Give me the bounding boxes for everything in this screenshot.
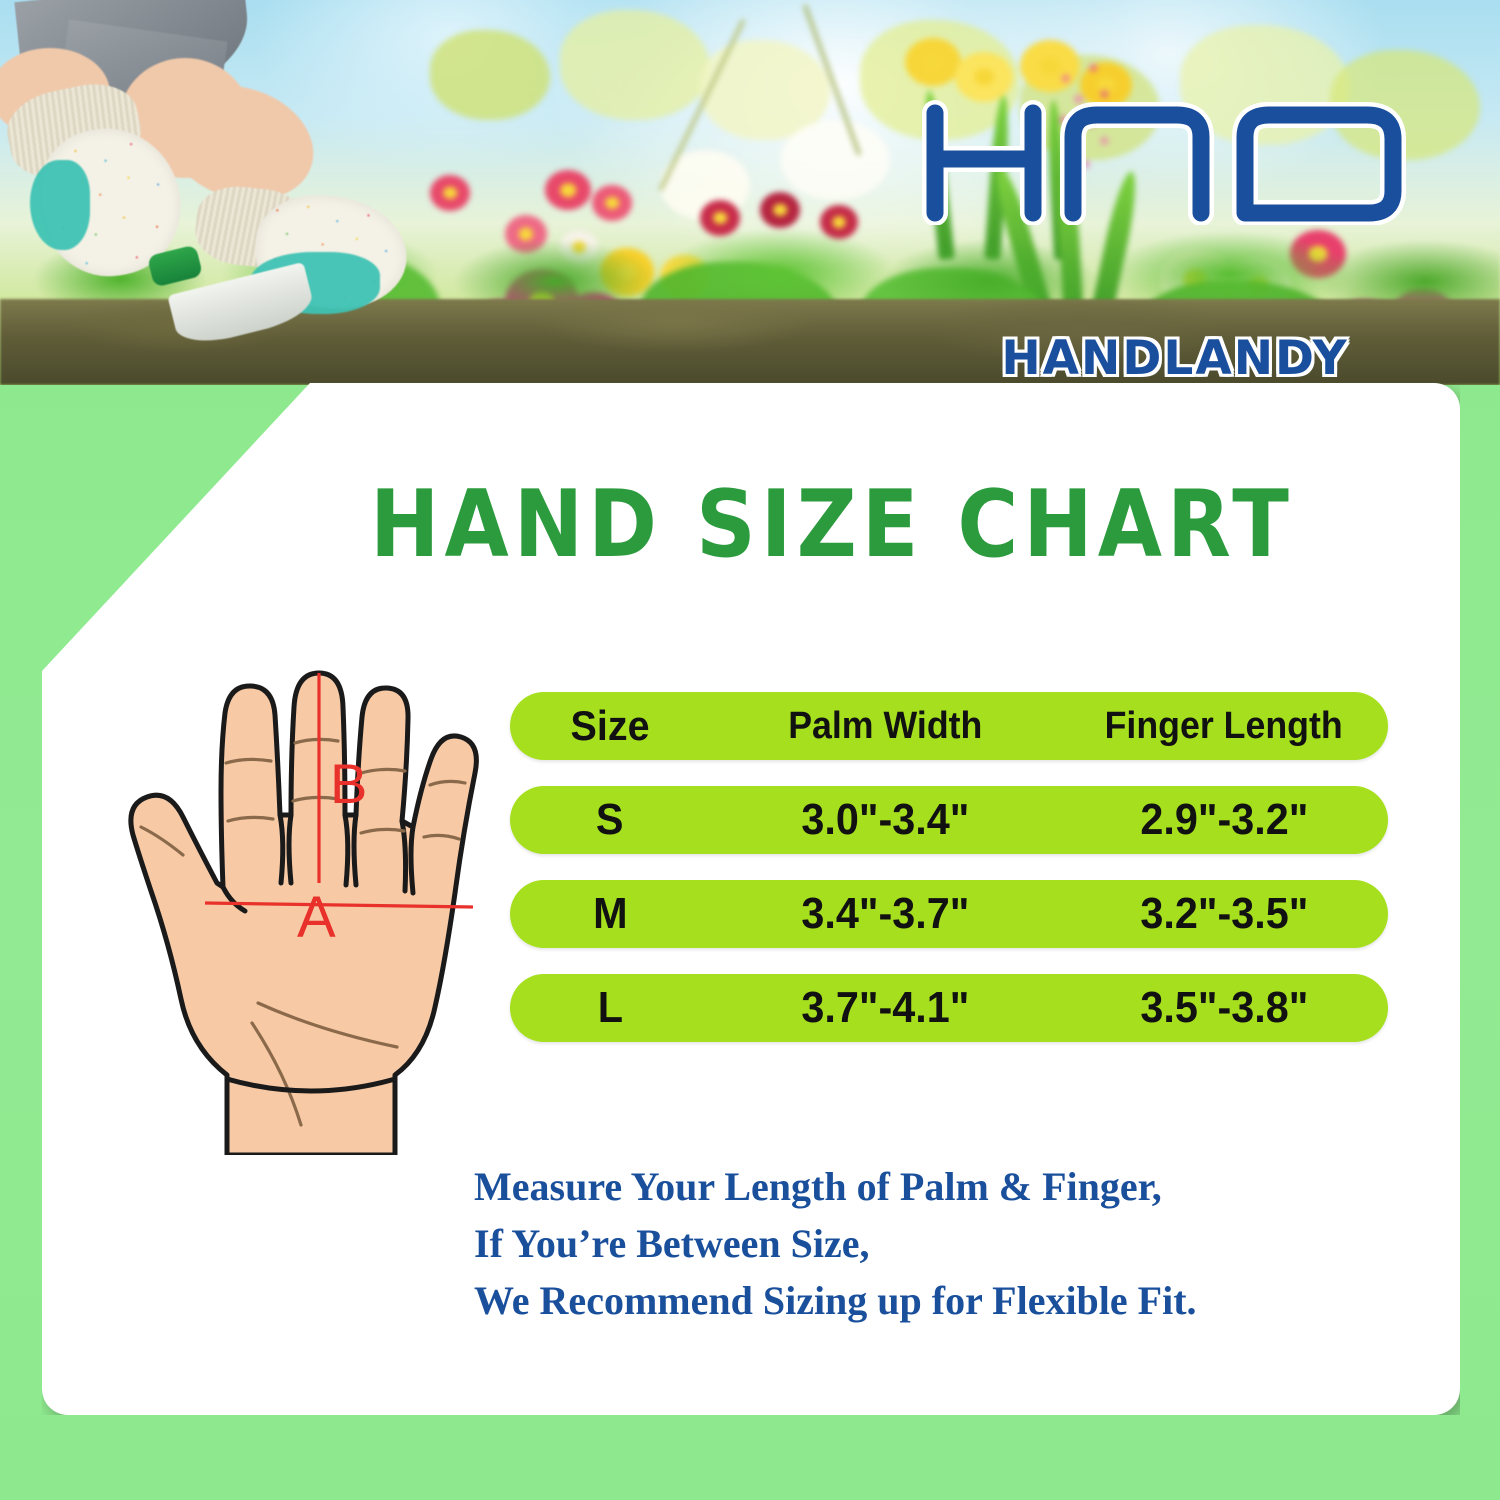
table-row: M 3.4"-3.7" 3.2"-3.5" (510, 880, 1388, 948)
table-header-row: Size Palm Width Finger Length (510, 692, 1388, 760)
column-header-palm-width: Palm Width (710, 705, 1060, 748)
size-chart-poster: HANDLANDY HAND SIZE CHART (0, 0, 1500, 1500)
cell-size: L (510, 983, 710, 1033)
cell-palm-width: 3.7"-4.1" (710, 983, 1060, 1033)
table-row: S 3.0"-3.4" 2.9"-3.2" (510, 786, 1388, 854)
sizing-note-line-1: Measure Your Length of Palm & Finger, (474, 1158, 1404, 1215)
hnd-monogram-logo-icon (915, 95, 1435, 225)
cell-size: S (510, 795, 710, 845)
cell-palm-width: 3.0"-3.4" (710, 795, 1060, 845)
sizing-note-line-3: We Recommend Sizing up for Flexible Fit. (474, 1272, 1404, 1329)
brand-logo: HANDLANDY (915, 95, 1435, 290)
sizing-note-line-2: If You’re Between Size, (474, 1215, 1404, 1272)
cell-size: M (510, 889, 710, 939)
measure-label-b: B (330, 752, 367, 815)
page-title: HAND SIZE CHART (370, 470, 1400, 579)
hand-measurement-diagram: B A (95, 655, 515, 1155)
column-header-finger-length: Finger Length (1060, 705, 1388, 748)
measure-label-a: A (297, 885, 336, 950)
size-table: Size Palm Width Finger Length S 3.0"-3.4… (510, 692, 1388, 1068)
table-row: L 3.7"-4.1" 3.5"-3.8" (510, 974, 1388, 1042)
cell-palm-width: 3.4"-3.7" (710, 889, 1060, 939)
sizing-note: Measure Your Length of Palm & Finger, If… (474, 1158, 1404, 1329)
cell-finger-length: 3.5"-3.8" (1060, 983, 1388, 1033)
brand-name: HANDLANDY (915, 331, 1435, 386)
cell-finger-length: 3.2"-3.5" (1060, 889, 1388, 939)
column-header-size: Size (510, 702, 710, 750)
cell-finger-length: 2.9"-3.2" (1060, 795, 1388, 845)
